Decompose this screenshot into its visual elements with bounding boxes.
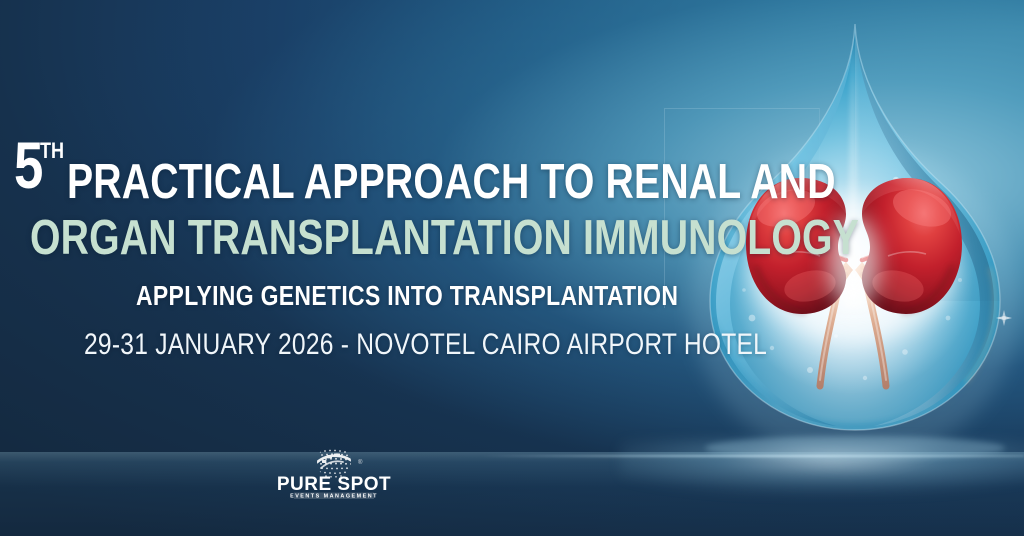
ureter-icon — [820, 290, 886, 386]
logo-name: PURE SPOT — [277, 474, 391, 495]
water-droplet-with-kidneys-illustration — [660, 18, 1024, 470]
page-title-line-1: PRACTICAL APPROACH TO RENAL AND — [67, 158, 836, 207]
pure-spot-logo[interactable]: ® PURE SPOT EVENTS MANAGEMENT — [272, 444, 396, 500]
logo-tagline-group: EVENTS MANAGEMENT — [290, 493, 378, 500]
event-subtitle: APPLYING GENETICS INTO TRANSPLANTATION — [136, 282, 678, 310]
sparkle-icon — [996, 310, 1012, 326]
droplet-halo — [690, 143, 1020, 463]
edition-ordinal: 5 TH — [14, 138, 69, 192]
kidney-left — [746, 178, 846, 314]
droplet-reflection — [705, 436, 1005, 460]
renal-pelvis-left — [836, 262, 853, 296]
event-banner: 5 TH PRACTICAL APPROACH TO RENAL AND ORG… — [0, 0, 1024, 536]
registered-mark-icon: ® — [358, 459, 363, 466]
renal-pelvis-right — [855, 262, 872, 296]
logo-wordmark: PURE SPOT — [277, 474, 391, 495]
floor-glow — [620, 440, 1024, 494]
horizon-line — [480, 455, 1024, 457]
water-bubbles-icon — [742, 166, 962, 380]
page-title-line-2: ORGAN TRANSPLANTATION IMMUNOLOGY — [30, 214, 859, 263]
decorative-rectangle-outline — [664, 108, 820, 308]
kidney-right — [862, 178, 962, 314]
water-droplet-icon — [710, 24, 1000, 430]
ordinal-number: 5 — [14, 138, 43, 192]
ordinal-suffix: TH — [40, 140, 64, 162]
renal-artery-icon — [802, 252, 906, 271]
reflective-surface-icon — [0, 452, 1024, 536]
event-date-and-venue: 29-31 JANUARY 2026 - NOVOTEL CAIRO AIRPO… — [84, 330, 767, 360]
kidneys-icon — [746, 178, 962, 386]
renal-vein-icon — [804, 274, 904, 282]
logo-tagline: EVENTS MANAGEMENT — [290, 494, 378, 500]
title-first-line-row: 5 TH PRACTICAL APPROACH TO RENAL AND — [14, 138, 1024, 207]
